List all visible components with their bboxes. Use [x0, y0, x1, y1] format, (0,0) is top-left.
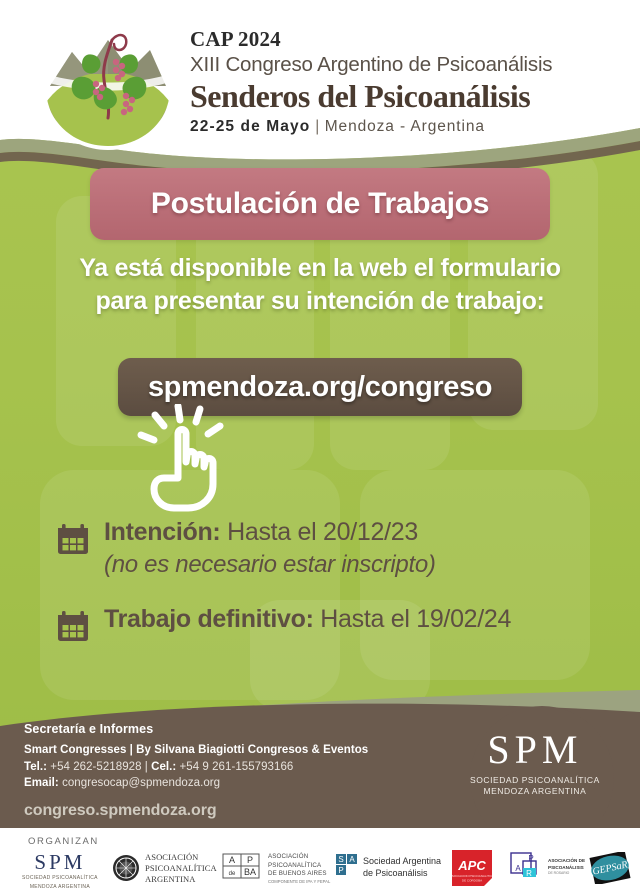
lead-line-1: Ya está disponible en la web el formular… [0, 252, 640, 285]
deadline-text: Intención: Hasta el 20/12/23 (no es nece… [104, 518, 436, 579]
apdeba-grid-mark: A P de BA [222, 853, 262, 884]
organizer-logo-gepsar: GEPSaR [588, 852, 632, 889]
spm-sub-line-1: SOCIEDAD PSICOANALÍTICA [22, 875, 98, 882]
svg-text:ASOCIACION PSICOANALITICA: ASOCIACION PSICOANALITICA [452, 874, 492, 878]
phone-separator: | [145, 761, 148, 773]
deadline-label: Trabajo definitivo: [104, 605, 314, 633]
congress-subtitle: XIII Congreso Argentino de Psicoanálisis [190, 52, 610, 78]
svg-text:DE CORDOBA: DE CORDOBA [462, 879, 482, 883]
apr-line-3: DE ROSARIO [548, 871, 585, 876]
svg-text:APC: APC [457, 858, 486, 873]
organizer-logo-apc: APC ASOCIACION PSICOANALITICA DE CORDOBA [452, 850, 492, 891]
apdeba-line-3: DE BUENOS AIRES [268, 870, 330, 879]
apdeba-line-4: COMPONENTE DE IPA Y FEPAL [268, 879, 330, 885]
footer-contact-block: Secretaría e Informes Smart Congresses |… [24, 722, 368, 820]
organizer-logo-apr: A P R ASOCIACIÓN DE PSICOANÁLISIS DE ROS… [510, 852, 585, 882]
deadline-note: (no es necesario estar inscripto) [104, 550, 436, 580]
tel-label: Tel.: [24, 761, 47, 773]
svg-text:A: A [515, 864, 521, 873]
deadline-value: Hasta el 19/02/24 [320, 605, 511, 633]
apdeba-line-2: PSICOANALÍTICA [268, 862, 330, 871]
pointing-hand-cursor-icon [134, 404, 242, 512]
svg-text:A: A [349, 855, 355, 864]
apr-line-1: ASOCIACIÓN DE [548, 858, 585, 864]
spm-footer-logo: SPM SOCIEDAD PSICOANALÍTICA MENDOZA ARGE… [470, 730, 600, 798]
deadline-value: Hasta el 20/12/23 [227, 518, 418, 546]
svg-text:S: S [338, 855, 343, 864]
apa-line-2: PSICOANALÍTICA [145, 863, 217, 874]
organizers-strip: ORGANIZAN SPM SOCIEDAD PSICOANALÍTICA ME… [0, 828, 640, 896]
footer-website-link[interactable]: congreso.spmendoza.org [24, 802, 368, 820]
page-title: Senderos del Psicoanálisis [190, 79, 610, 115]
sap-text: Sociedad Argentina de Psicoanálisis [363, 856, 441, 879]
organizer-logo-apa: ASOCIACIÓN PSICOANALÍTICA ARGENTINA [112, 852, 217, 885]
email-label: Email: [24, 777, 59, 789]
cel-value: +54 9 261-155793166 [180, 761, 294, 773]
congress-dates: 22-25 de Mayo [190, 118, 310, 135]
spm-sub-line-2: MENDOZA ARGENTINA [22, 884, 98, 891]
website-url-label: spmendoza.org/congreso [148, 371, 492, 404]
email-value[interactable]: congresocap@spmendoza.org [62, 777, 220, 789]
tel-value: +54 262-5218928 [50, 761, 141, 773]
apdeba-line-1: ASOCIACIÓN [268, 853, 330, 862]
calendar-icon [56, 522, 90, 556]
date-separator: | [315, 118, 320, 135]
deadlines-list: Intención: Hasta el 20/12/23 (no es nece… [56, 518, 616, 657]
footer-title: Secretaría e Informes [24, 722, 368, 736]
cap-mountains-grapevine-logo [38, 22, 178, 150]
organizer-logo-sap: S A P Sociedad Argentina de Psicoanálisi… [336, 854, 441, 881]
deadline-row-trabajo-definitivo: Trabajo definitivo: Hasta el 19/02/24 [56, 605, 616, 643]
apa-text: ASOCIACIÓN PSICOANALÍTICA ARGENTINA [145, 852, 217, 885]
cap-year-label: CAP 2024 [190, 28, 610, 50]
apa-seal-icon [112, 854, 140, 882]
svg-text:BA: BA [244, 867, 256, 877]
congress-date-location: 22-25 de Mayo | Mendoza - Argentina [190, 118, 610, 136]
spm-subtitle-line-2: MENDOZA ARGENTINA [470, 786, 600, 797]
svg-text:P: P [338, 866, 343, 875]
apa-line-1: ASOCIACIÓN [145, 852, 217, 863]
svg-text:R: R [526, 869, 532, 878]
cel-label: Cel.: [151, 761, 176, 773]
apr-text: ASOCIACIÓN DE PSICOANÁLISIS DE ROSARIO [548, 858, 585, 876]
calendar-icon [56, 609, 90, 643]
deadline-row-intencion: Intención: Hasta el 20/12/23 (no es nece… [56, 518, 616, 579]
spm-initials: SPM [22, 852, 98, 873]
deadline-text: Trabajo definitivo: Hasta el 19/02/24 [104, 605, 511, 635]
spm-subtitle-line-1: SOCIEDAD PSICOANALÍTICA [470, 775, 600, 786]
deadline-label: Intención: [104, 518, 220, 546]
lead-paragraph: Ya está disponible en la web el formular… [0, 252, 640, 318]
spm-initials: SPM [470, 730, 600, 770]
congress-location: Mendoza - Argentina [325, 118, 485, 135]
sap-line-1: Sociedad Argentina [363, 856, 441, 868]
poster: CAP 2024 XIII Congreso Argentino de Psic… [0, 0, 640, 896]
svg-text:P: P [528, 854, 533, 863]
sap-mark-icon: S A P [336, 854, 358, 881]
footer-phones: Tel.: +54 262-5218928 | Cel.: +54 9 261-… [24, 759, 368, 776]
sap-line-2: de Psicoanálisis [363, 868, 441, 880]
section-banner: Postulación de Trabajos [90, 168, 550, 240]
organizers-label: ORGANIZAN [28, 836, 99, 847]
apdeba-text: ASOCIACIÓN PSICOANALÍTICA DE BUENOS AIRE… [268, 853, 330, 885]
lead-line-2: para presentar su intención de trabajo: [0, 285, 640, 318]
section-banner-title: Postulación de Trabajos [151, 187, 489, 221]
footer-organizer: Smart Congresses | By Silvana Biagiotti … [24, 742, 368, 759]
header-text-block: CAP 2024 XIII Congreso Argentino de Psic… [190, 28, 610, 136]
deadline-main-line: Intención: Hasta el 20/12/23 [104, 518, 418, 546]
svg-text:A: A [229, 855, 235, 865]
footer-email: Email: congresocap@spmendoza.org [24, 775, 368, 792]
svg-text:P: P [247, 855, 253, 865]
deadline-main-line: Trabajo definitivo: Hasta el 19/02/24 [104, 605, 511, 633]
organizer-logo-apdeba: A P de BA ASOCIACIÓN PSICOANALÍTICA DE B… [222, 853, 330, 885]
svg-text:de: de [229, 871, 236, 877]
apa-line-3: ARGENTINA [145, 874, 217, 885]
organizer-logo-spm: SPM SOCIEDAD PSICOANALÍTICA MENDOZA ARGE… [22, 852, 98, 890]
